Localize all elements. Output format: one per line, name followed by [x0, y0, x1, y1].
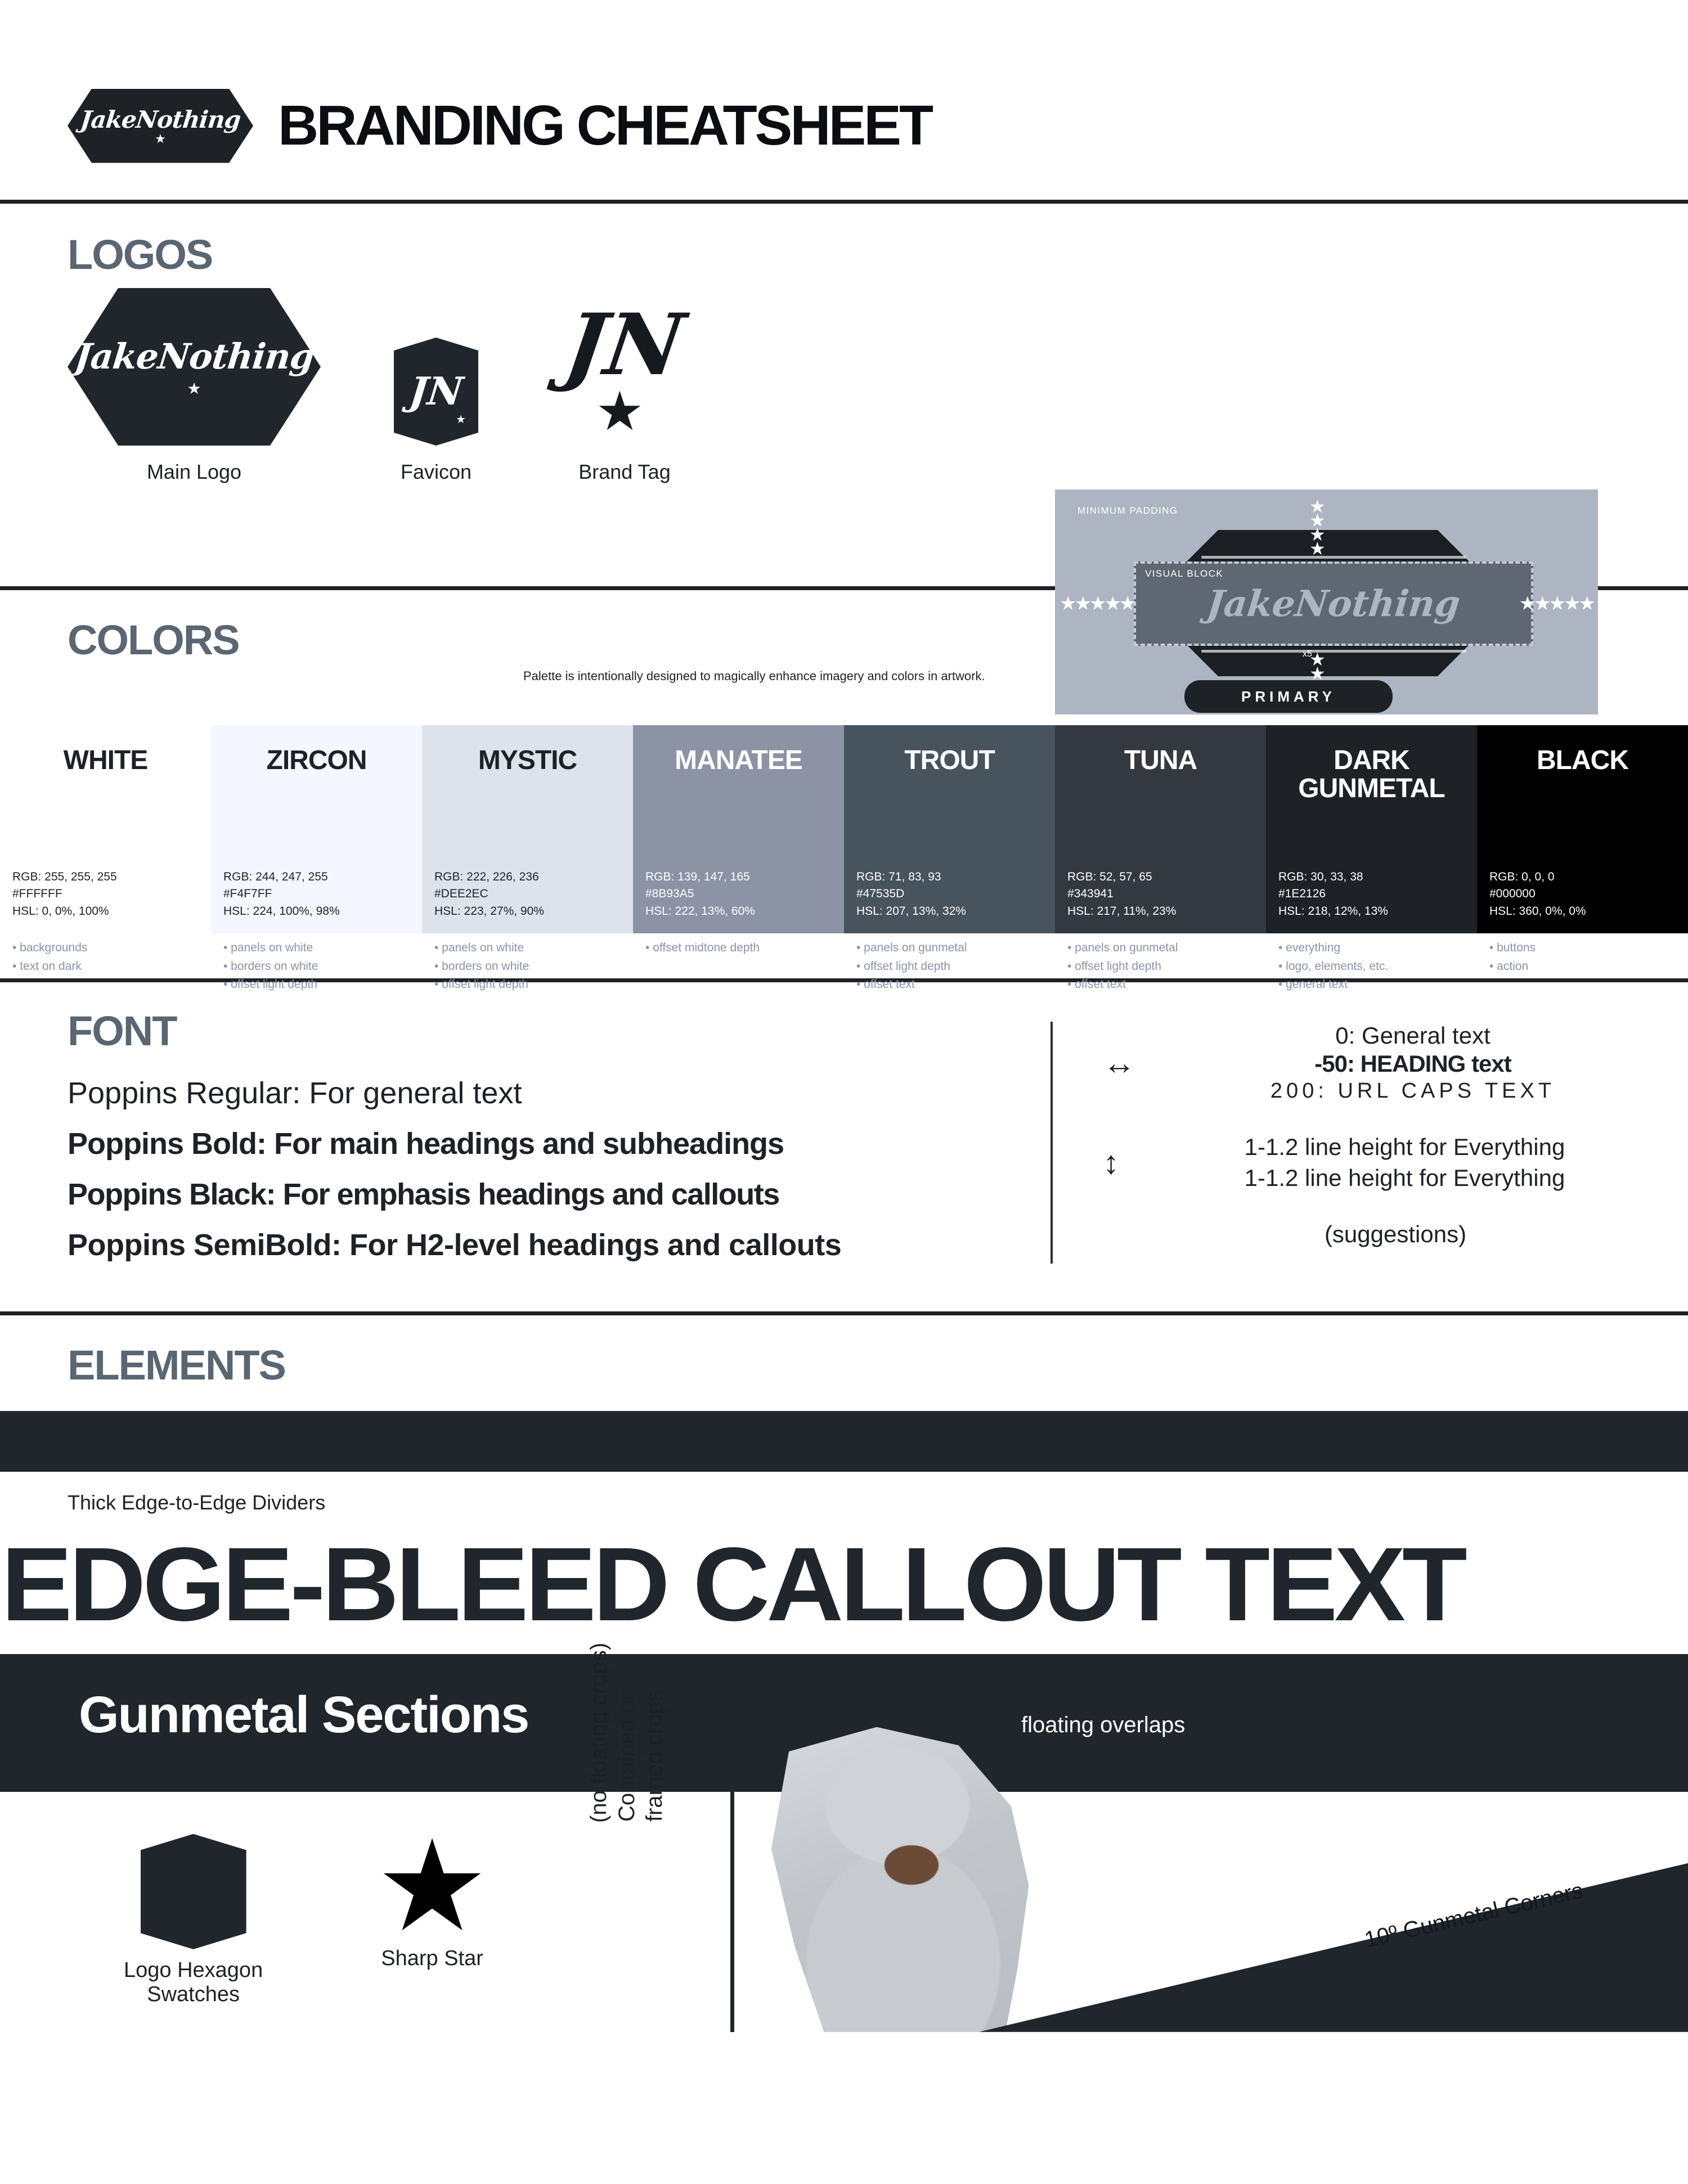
color-value-hex: #000000	[1489, 886, 1586, 902]
shape-hexagon: Logo Hexagon Swatches	[124, 1834, 263, 2007]
star-shape-icon: ★	[375, 1834, 489, 1938]
color-swatch-values: RGB: 30, 33, 38#1E2126HSL: 218, 12%, 13%	[1278, 869, 1388, 920]
main-logo-icon: JakeNothing ★	[68, 288, 321, 446]
gunmetal-band-right	[1204, 1654, 1688, 1792]
gunmetal-title: Gunmetal Sections	[79, 1689, 528, 1741]
gunmetal-showcase: Gunmetal Sections floating overlaps Cont…	[0, 1654, 1688, 2032]
color-value-hsl: HSL: 0, 0%, 100%	[12, 903, 117, 920]
vertical-divider	[1050, 1022, 1053, 1264]
shape-star: ★ Sharp Star	[375, 1834, 489, 2007]
color-swatch: BLACKRGB: 0, 0, 0#000000HSL: 360, 0%, 0%	[1477, 725, 1688, 933]
logo-caption: Main Logo	[147, 460, 241, 484]
color-swatch: MANATEERGB: 139, 147, 165#8B93A5HSL: 222…	[633, 725, 844, 933]
floating-overlaps-label: floating overlaps	[1021, 1713, 1185, 1738]
logos-section-title: LOGOS	[68, 231, 1688, 278]
thick-divider-caption: Thick Edge-to-Edge Dividers	[0, 1472, 1688, 1531]
color-value-rgb: RGB: 255, 255, 255	[12, 869, 117, 886]
color-swatch: TROUTRGB: 71, 83, 93#47535DHSL: 207, 13%…	[844, 725, 1055, 933]
brandtag-monogram: JN	[560, 305, 689, 385]
star-caption: Sharp Star	[381, 1947, 483, 1971]
minimum-padding-label: MINIMUM PADDING	[1078, 505, 1178, 516]
color-swatch: DARK GUNMETALRGB: 30, 33, 38#1E2126HSL: …	[1266, 725, 1477, 933]
color-swatch-values: RGB: 71, 83, 93#47535DHSL: 207, 13%, 32%	[856, 869, 966, 920]
typography-metrics: ↔ 0: General text -50: HEADING text 200:…	[1103, 1022, 1665, 1248]
main-logo-script: JakeNothing	[73, 339, 315, 374]
logo-variant-brandtag: JN ★ Brand Tag	[551, 305, 698, 484]
contained-crops-label: Contained or framed crops	[613, 1619, 668, 1822]
vertical-arrow-icon: ↕	[1103, 1147, 1119, 1179]
color-swatch-values: RGB: 52, 57, 65#343941HSL: 217, 11%, 23%	[1067, 869, 1176, 920]
color-value-hsl: HSL: 218, 12%, 13%	[1278, 903, 1388, 920]
page-header: JakeNothing ★ BRANDING CHEATSHEET	[0, 0, 1688, 200]
brand-hexagon-logo-icon: JakeNothing ★	[68, 89, 253, 163]
hexagon-caption: Logo Hexagon Swatches	[124, 1958, 263, 2007]
color-usage-item: • offset light depth	[1067, 958, 1254, 976]
palette-note: Palette is intentionally designed to mag…	[523, 669, 985, 684]
hexagon-swatch-icon	[141, 1834, 246, 1949]
color-value-rgb: RGB: 52, 57, 65	[1067, 869, 1176, 886]
font-sample-list: Poppins Regular: For general text Poppin…	[68, 1078, 841, 1280]
suggestions-note: (suggestions)	[1125, 1221, 1665, 1248]
contained-crops-line-2: framed crops	[641, 1619, 668, 1822]
color-value-hsl: HSL: 223, 27%, 90%	[434, 903, 544, 920]
color-swatch: MYSTICRGB: 222, 226, 236#DEE2ECHSL: 223,…	[422, 725, 633, 933]
color-swatch-values: RGB: 222, 226, 236#DEE2ECHSL: 223, 27%, …	[434, 869, 544, 920]
line-height-group: ↕ 1-1.2 line height for Everything 1-1.2…	[1103, 1132, 1665, 1193]
colors-section: COLORS Palette is intentionally designed…	[0, 590, 1688, 978]
color-swatch-values: RGB: 139, 147, 165#8B93A5HSL: 222, 13%, …	[645, 869, 755, 920]
logo-caption: Favicon	[401, 460, 472, 484]
favicon-monogram: JN	[407, 369, 465, 414]
leading-line-2: 1-1.2 line height for Everything	[1144, 1163, 1665, 1194]
horizontal-arrow-icon: ↔	[1103, 1047, 1135, 1080]
color-swatch: WHITERGB: 255, 255, 255#FFFFFFHSL: 0, 0%…	[0, 725, 211, 933]
color-value-hex: #8B93A5	[645, 886, 755, 902]
edge-bleed-callout: EDGE-BLEED CALLOUT TEXT	[0, 1531, 1688, 1638]
color-usage-item: • panels on white	[434, 939, 621, 958]
color-usage-item: • offset light depth	[856, 958, 1043, 976]
color-usage-item: • buttons	[1489, 939, 1676, 958]
color-value-hex: #F4F7FF	[223, 886, 340, 902]
color-value-rgb: RGB: 244, 247, 255	[223, 869, 340, 886]
section-divider	[0, 200, 1688, 204]
padding-stars-top-icon: ★★★★	[1309, 500, 1326, 556]
logo-caption: Brand Tag	[578, 460, 670, 484]
color-value-rgb: RGB: 30, 33, 38	[1278, 869, 1388, 886]
color-usage-item: • panels on gunmetal	[856, 939, 1043, 958]
elements-section-title: ELEMENTS	[68, 1341, 1688, 1389]
color-value-rgb: RGB: 139, 147, 165	[645, 869, 755, 886]
color-value-hex: #FFFFFF	[12, 886, 117, 902]
font-section: FONT Poppins Regular: For general text P…	[0, 982, 1688, 1311]
star-icon: ★	[155, 134, 166, 144]
color-usage-item: • backgrounds	[12, 939, 199, 958]
tracking-line-3: 200: URL CAPS TEXT	[1160, 1077, 1665, 1105]
no-floating-crops-label: (no floating crops)	[585, 1643, 613, 1823]
logo-variant-main: JakeNothing ★ Main Logo	[68, 288, 321, 484]
color-swatch-name: ZIRCON	[223, 747, 410, 775]
color-value-hex: #DEE2EC	[434, 886, 544, 902]
logos-section: LOGOS JakeNothing ★ Main Logo JN ★ Favic…	[0, 204, 1688, 586]
shape-swatch-row: Logo Hexagon Swatches ★ Sharp Star	[124, 1834, 489, 2007]
branding-cheatsheet-page: JakeNothing ★ BRANDING CHEATSHEET LOGOS …	[0, 0, 1688, 2184]
font-sample-black: Poppins Black: For emphasis headings and…	[68, 1179, 841, 1210]
primary-badge: PRIMARY	[1184, 680, 1393, 713]
star-icon: ★	[187, 383, 201, 394]
color-value-hex: #47535D	[856, 886, 966, 902]
logo-variants-row: JakeNothing ★ Main Logo JN ★ Favicon JN …	[68, 288, 698, 484]
visual-block-label: VISUAL BLOCK	[1145, 568, 1223, 579]
color-swatch-name: TROUT	[856, 747, 1043, 775]
color-swatch-name: BLACK	[1489, 747, 1676, 775]
favicon-logo-icon: JN ★	[394, 338, 478, 446]
brand-tag-icon: JN ★	[551, 305, 698, 446]
color-value-hex: #343941	[1067, 886, 1176, 902]
color-swatch: TUNARGB: 52, 57, 65#343941HSL: 217, 11%,…	[1055, 725, 1266, 933]
font-sample-regular: Poppins Regular: For general text	[68, 1078, 841, 1108]
color-swatch-strip: WHITERGB: 255, 255, 255#FFFFFFHSL: 0, 0%…	[0, 725, 1688, 933]
color-usage-item: • logo, elements, etc.	[1278, 958, 1465, 976]
color-value-hsl: HSL: 222, 13%, 60%	[645, 903, 755, 920]
color-swatch: ZIRCONRGB: 244, 247, 255#F4F7FFHSL: 224,…	[211, 725, 422, 933]
color-swatch-name: MYSTIC	[434, 747, 621, 775]
color-swatch-values: RGB: 244, 247, 255#F4F7FFHSL: 224, 100%,…	[223, 869, 340, 920]
star-icon: ★	[456, 412, 466, 426]
color-swatch-name: DARK GUNMETAL	[1278, 747, 1465, 803]
color-usage-item: • borders on white	[223, 958, 410, 976]
font-sample-bold: Poppins Bold: For main headings and subh…	[68, 1129, 841, 1159]
letter-spacing-group: ↔ 0: General text -50: HEADING text 200:…	[1103, 1022, 1665, 1105]
color-value-rgb: RGB: 222, 226, 236	[434, 869, 544, 886]
color-usage-item: • action	[1489, 958, 1676, 976]
color-usage-item: • panels on gunmetal	[1067, 939, 1254, 958]
color-usage-item: • borders on white	[434, 958, 621, 976]
color-usage-item: • text on dark	[12, 958, 199, 976]
color-swatch-name: TUNA	[1067, 747, 1254, 775]
page-title: BRANDING CHEATSHEET	[278, 93, 931, 158]
color-usage-item: • panels on white	[223, 939, 410, 958]
hexagon-caption-line-1: Logo Hexagon	[124, 1958, 263, 1983]
colors-section-title: COLORS	[68, 616, 1688, 664]
color-value-rgb: RGB: 71, 83, 93	[856, 869, 966, 886]
color-swatch-name: MANATEE	[645, 747, 832, 775]
color-value-hsl: HSL: 360, 0%, 0%	[1489, 903, 1586, 920]
vertical-divider	[730, 1792, 734, 2032]
hexagon-caption-line-2: Swatches	[124, 1983, 263, 2007]
color-value-hsl: HSL: 207, 13%, 32%	[856, 903, 966, 920]
color-value-rgb: RGB: 0, 0, 0	[1489, 869, 1586, 886]
tracking-line-1: 0: General text	[1160, 1022, 1665, 1050]
section-divider	[0, 1311, 1688, 1315]
color-value-hex: #1E2126	[1278, 886, 1388, 902]
brand-script-wordmark: JakeNothing	[79, 108, 242, 132]
elements-section: ELEMENTS	[0, 1315, 1688, 1411]
color-swatch-values: RGB: 0, 0, 0#000000HSL: 360, 0%, 0%	[1489, 869, 1586, 920]
color-value-hsl: HSL: 217, 11%, 23%	[1067, 903, 1176, 920]
leading-line-1: 1-1.2 line height for Everything	[1144, 1132, 1665, 1163]
color-usage-item: • offset midtone depth	[645, 939, 832, 958]
star-icon: ★	[595, 385, 644, 439]
color-value-hsl: HSL: 224, 100%, 98%	[223, 903, 340, 920]
contained-crops-line-1: Contained or	[613, 1619, 641, 1822]
color-usage-item: • everything	[1278, 939, 1465, 958]
color-swatch-values: RGB: 255, 255, 255#FFFFFFHSL: 0, 0%, 100…	[12, 869, 117, 920]
thick-divider-sample	[0, 1411, 1688, 1472]
tracking-line-2: -50: HEADING text	[1160, 1050, 1665, 1078]
font-sample-semibold: Poppins SemiBold: For H2-level headings …	[68, 1230, 841, 1260]
logo-variant-favicon: JN ★ Favicon	[394, 338, 478, 484]
color-swatch-name: WHITE	[12, 747, 199, 775]
